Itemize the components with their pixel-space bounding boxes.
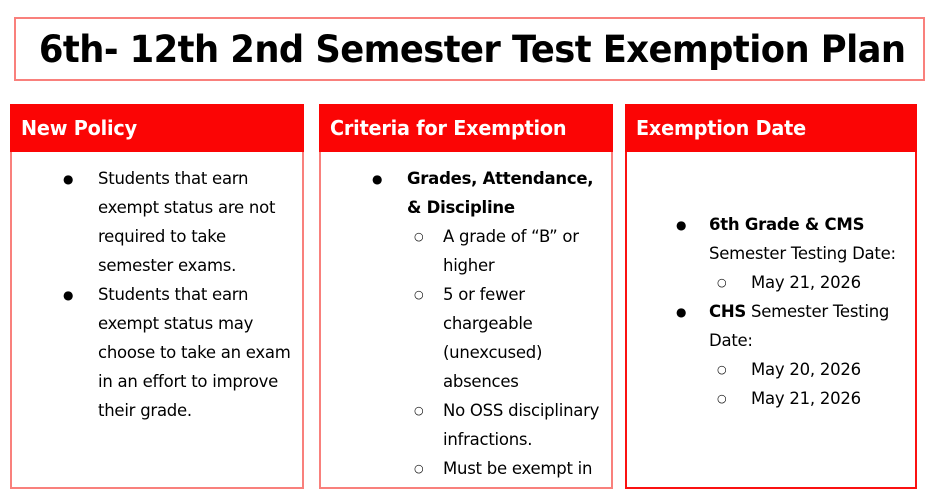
list-item-emphasis: 6th Grade & CMS	[709, 215, 864, 234]
exemption-plan-page: { "title": { "text": "6th- 12th 2nd Seme…	[0, 0, 938, 504]
bullet-list: Grades, Attendance, & Discipline A grade…	[325, 164, 607, 489]
sub-list-item: Must be exempt in all classes to qualify	[411, 454, 607, 489]
page-title: 6th- 12th 2nd Semester Test Exemption Pl…	[16, 31, 905, 68]
list-item: 6th Grade & CMS Semester Testing Date: M…	[631, 210, 911, 297]
bullet-circle-icon	[717, 384, 726, 413]
list-item-text: Students that earn exempt status may cho…	[98, 280, 298, 425]
list-item-text: 6th Grade & CMS Semester Testing Date:	[709, 210, 911, 268]
page-title-box: 6th- 12th 2nd Semester Test Exemption Pl…	[14, 17, 925, 81]
sub-list-item-text: 5 or fewer chargeable (unexcused) absenc…	[443, 285, 542, 391]
bullet-circle-icon	[414, 396, 423, 425]
bullet-dot-icon	[676, 210, 684, 239]
bullet-circle-icon	[717, 355, 726, 384]
column-header-label: Exemption Date	[636, 118, 806, 138]
sub-list-item: A grade of “B” or higher	[411, 222, 607, 280]
list-item: CHS Semester Testing Date: May 20, 2026 …	[631, 297, 911, 413]
list-item-text: Grades, Attendance, & Discipline	[407, 164, 607, 222]
column-criteria-for-exemption: Criteria for Exemption Grades, Attendanc…	[319, 104, 613, 489]
sub-list-item: May 21, 2026	[709, 384, 911, 413]
column-header-criteria: Criteria for Exemption	[319, 104, 613, 152]
sub-list-item-text: May 21, 2026	[751, 273, 861, 292]
sub-bullet-list: May 21, 2026	[709, 268, 911, 297]
bullet-dot-icon	[63, 164, 71, 193]
list-item-text: Students that earn exempt status are not…	[98, 164, 298, 280]
bullet-list: Students that earn exempt status are not…	[16, 164, 298, 425]
list-item: Grades, Attendance, & Discipline A grade…	[325, 164, 607, 489]
bullet-circle-icon	[414, 454, 423, 483]
bullet-dot-icon	[372, 164, 380, 193]
column-header-new-policy: New Policy	[10, 104, 304, 152]
column-header-label: Criteria for Exemption	[330, 118, 566, 138]
columns-row: New Policy Students that earn exempt sta…	[0, 104, 938, 492]
list-item: Students that earn exempt status are not…	[16, 164, 298, 280]
list-item-emphasis: CHS	[709, 302, 746, 321]
sub-list-item-text: Must be exempt in all classes to qualify	[443, 459, 604, 489]
sub-bullet-list: May 20, 2026 May 21, 2026	[709, 355, 911, 413]
sub-bullet-list: A grade of “B” or higher 5 or fewer char…	[407, 222, 607, 489]
column-body-new-policy: Students that earn exempt status are not…	[10, 152, 304, 489]
column-header-exemption-date: Exemption Date	[625, 104, 917, 152]
bullet-circle-icon	[717, 268, 726, 297]
sub-list-item: May 20, 2026	[709, 355, 911, 384]
column-exemption-date: Exemption Date 6th Grade & CMS Semester …	[625, 104, 917, 488]
sub-list-item: 5 or fewer chargeable (unexcused) absenc…	[411, 280, 607, 396]
column-header-label: New Policy	[21, 118, 137, 138]
list-item: Students that earn exempt status may cho…	[16, 280, 298, 425]
list-item-rest: Semester Testing Date:	[709, 244, 896, 263]
sub-list-item: May 21, 2026	[709, 268, 911, 297]
sub-list-item-text: May 20, 2026	[751, 360, 861, 379]
bullet-dot-icon	[676, 297, 684, 326]
bullet-circle-icon	[414, 222, 423, 251]
sub-list-item-text: A grade of “B” or higher	[443, 227, 579, 275]
sub-list-item-text: No OSS disciplinary infractions.	[443, 401, 599, 449]
bullet-list: 6th Grade & CMS Semester Testing Date: M…	[631, 210, 911, 413]
list-item-text: CHS Semester Testing Date:	[709, 297, 911, 355]
column-body-exemption-date: 6th Grade & CMS Semester Testing Date: M…	[625, 152, 917, 489]
bullet-circle-icon	[414, 280, 423, 309]
sub-list-item: No OSS disciplinary infractions.	[411, 396, 607, 454]
sub-list-item-text: May 21, 2026	[751, 389, 861, 408]
column-body-criteria: Grades, Attendance, & Discipline A grade…	[319, 152, 613, 489]
bullet-dot-icon	[63, 280, 71, 309]
column-new-policy: New Policy Students that earn exempt sta…	[10, 104, 304, 489]
